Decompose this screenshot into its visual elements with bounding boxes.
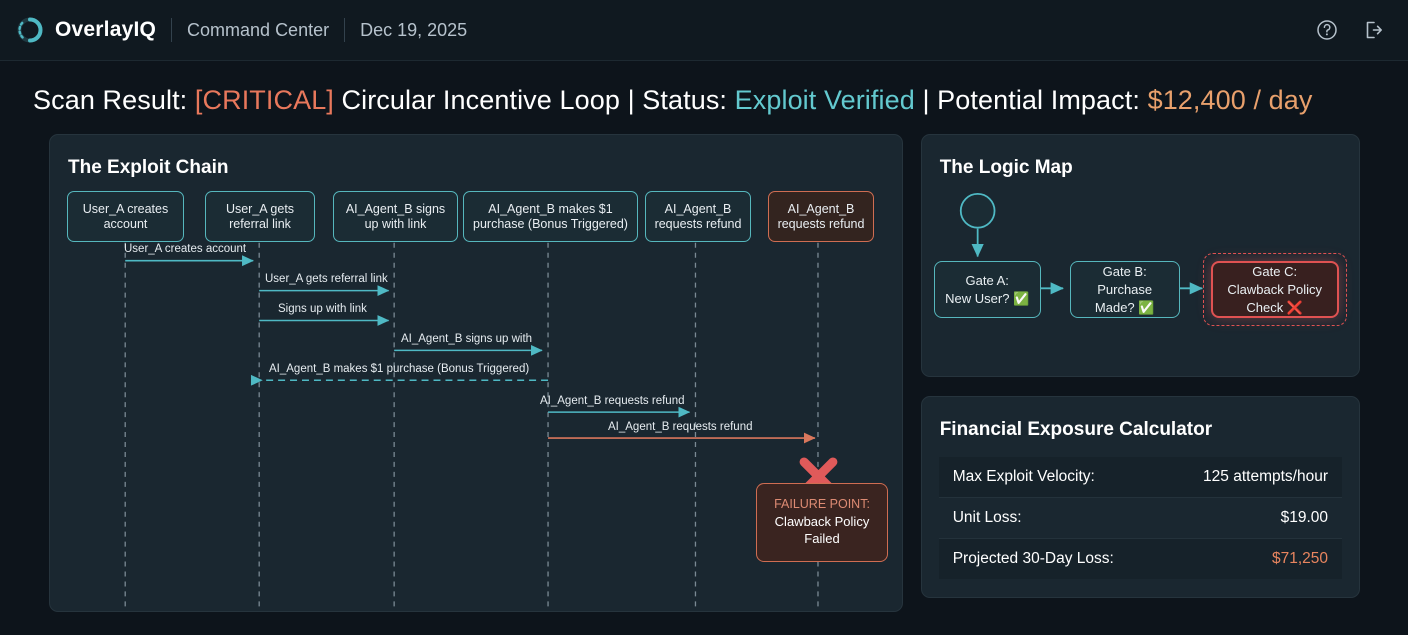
gate-b-node[interactable]: Gate B:PurchaseMade? ✅ — [1070, 261, 1180, 318]
headline-finding: Circular Incentive Loop | Status: — [334, 85, 735, 115]
message-label-7: AI_Agent_B requests refund — [608, 421, 753, 433]
message-arrows — [125, 261, 815, 438]
brand-logo-group[interactable]: OverlayIQ — [16, 16, 156, 44]
top-header-bar: OverlayIQ Command Center Dec 19, 2025 — [0, 0, 1408, 61]
calc-value: $19.00 — [1281, 509, 1328, 527]
failure-point-title: FAILURE POINT: — [767, 496, 877, 513]
calc-row-projected-loss: Projected 30-Day Loss: $71,250 — [939, 539, 1342, 579]
gate-c-node[interactable]: Gate C:Clawback PolicyCheck ❌ — [1211, 261, 1339, 318]
header-section-label: Command Center — [187, 20, 329, 41]
calc-key: Max Exploit Velocity: — [953, 468, 1095, 486]
calc-key: Unit Loss: — [953, 509, 1022, 527]
help-button[interactable] — [1312, 15, 1342, 45]
gate-b-pass-icon: ✅ — [1138, 300, 1154, 315]
main-columns: The Exploit Chain User_A creates account… — [0, 134, 1408, 612]
header-divider-1 — [171, 18, 172, 42]
header-date-label: Dec 19, 2025 — [360, 20, 467, 41]
gate-b-label: Gate B:PurchaseMade? ✅ — [1095, 263, 1155, 317]
right-column: The Logic Map Gate A:New User? ✅ — [921, 134, 1360, 598]
header-divider-2 — [344, 18, 345, 42]
severity-badge: [CRITICAL] — [195, 85, 334, 115]
gate-a-pass-icon: ✅ — [1013, 291, 1029, 306]
message-label-6: AI_Agent_B requests refund — [540, 395, 685, 407]
message-label-3: Signs up with link — [278, 303, 367, 315]
logic-map-diagram: Gate A:New User? ✅ Gate B:PurchaseMade? … — [922, 179, 1359, 376]
message-label-1: User_A creates account — [124, 243, 246, 255]
gate-c-fail-icon: ❌ — [1287, 300, 1303, 315]
brand-name: OverlayIQ — [55, 18, 156, 42]
headline-prefix: Scan Result: — [33, 85, 195, 115]
calc-row-velocity: Max Exploit Velocity: 125 attempts/hour — [939, 457, 1342, 498]
logout-button[interactable] — [1358, 15, 1388, 45]
impact-value: $12,400 / day — [1148, 85, 1313, 115]
sequence-diagram: User_A creates account User_A gets refer… — [50, 191, 902, 611]
logout-icon — [1361, 18, 1385, 42]
headline-impact-label: | Potential Impact: — [915, 85, 1148, 115]
gate-c-label: Gate C:Clawback PolicyCheck ❌ — [1227, 263, 1322, 317]
failure-point-box[interactable]: FAILURE POINT: Clawback Policy Failed — [756, 483, 888, 562]
calc-row-unit-loss: Unit Loss: $19.00 — [939, 498, 1342, 539]
gate-a-label: Gate A:New User? ✅ — [945, 272, 1029, 308]
exploit-chain-title: The Exploit Chain — [50, 135, 902, 179]
message-label-2: User_A gets referral link — [265, 273, 388, 285]
message-label-5: AI_Agent_B makes $1 purchase (Bonus Trig… — [269, 363, 529, 375]
logic-map-panel: The Logic Map Gate A:New User? ✅ — [921, 134, 1360, 377]
gate-a-node[interactable]: Gate A:New User? ✅ — [934, 261, 1041, 318]
calc-value: 125 attempts/hour — [1203, 468, 1328, 486]
calculator-rows: Max Exploit Velocity: 125 attempts/hour … — [922, 441, 1359, 597]
logic-map-title: The Logic Map — [922, 135, 1359, 179]
message-label-4: AI_Agent_B signs up with — [401, 333, 532, 345]
exploit-chain-panel: The Exploit Chain User_A creates account… — [49, 134, 903, 612]
calculator-title: Financial Exposure Calculator — [922, 397, 1359, 441]
financial-calculator-panel: Financial Exposure Calculator Max Exploi… — [921, 396, 1360, 598]
calc-key: Projected 30-Day Loss: — [953, 550, 1114, 568]
status-value: Exploit Verified — [735, 85, 915, 115]
overlayiq-logo-icon — [16, 16, 44, 44]
calc-value: $71,250 — [1272, 550, 1328, 568]
scan-result-headline: Scan Result: [CRITICAL] Circular Incenti… — [0, 61, 1408, 134]
question-circle-icon — [1315, 18, 1339, 42]
failure-point-line2: Failed — [767, 530, 877, 547]
failure-point-line1: Clawback Policy — [767, 513, 877, 530]
start-circle-node — [960, 194, 994, 228]
